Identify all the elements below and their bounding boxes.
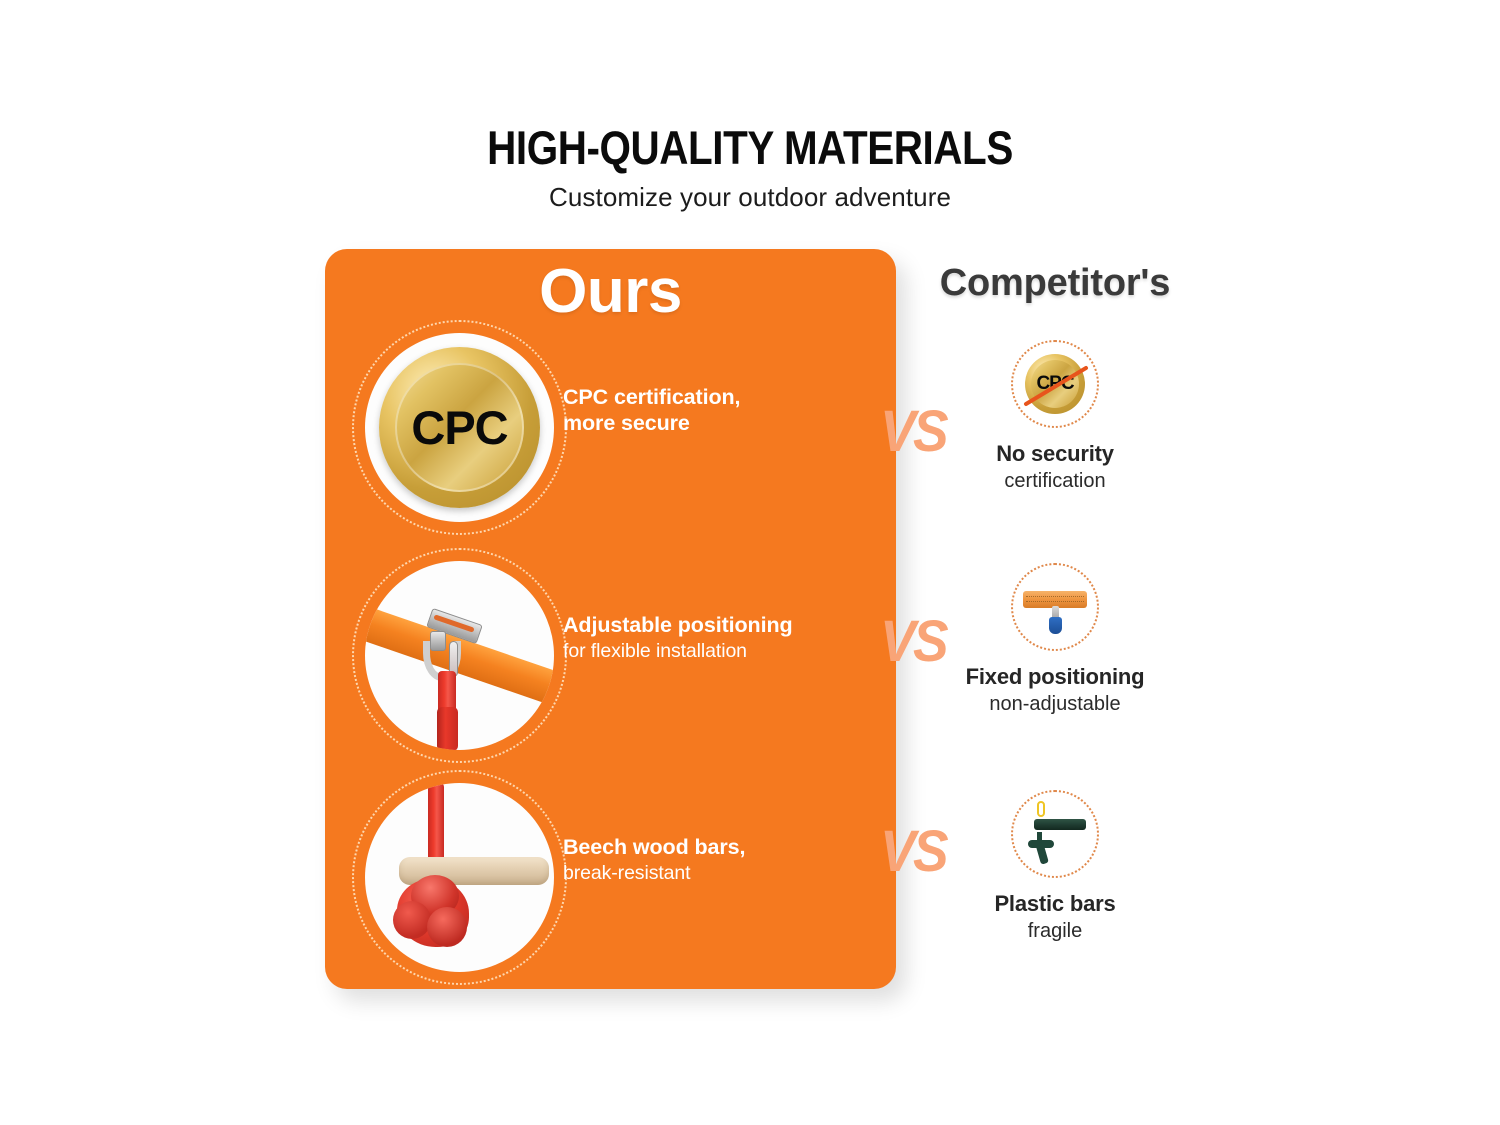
fixed-strap-hook-icon — [1011, 563, 1099, 651]
competitor-feature-line2: fragile — [930, 918, 1180, 945]
wood-bar-rope-icon — [352, 770, 567, 985]
competitor-feature-row: Plastic bars fragile — [930, 790, 1180, 945]
competitor-feature-line1: Fixed positioning — [930, 663, 1180, 691]
competitor-feature-line1: Plastic bars — [930, 890, 1180, 918]
cpc-medal-icon: CPC — [352, 320, 567, 535]
competitor-feature-row: CPC No security certification — [930, 340, 1180, 495]
cpc-medal-crossed-icon: CPC — [1011, 340, 1099, 428]
strap-stitch-line — [1026, 596, 1084, 597]
photo-circle — [365, 783, 554, 972]
medal-label: CPC — [411, 400, 507, 455]
ours-feature-text: CPC certification, more secure — [563, 384, 883, 436]
ours-feature-text: Adjustable positioning for flexible inst… — [563, 612, 883, 664]
rope-knot-detail — [393, 901, 431, 939]
ours-feature-line2: break-resistant — [563, 860, 883, 886]
ours-feature-line1: Beech wood bars, — [563, 834, 883, 860]
medal-face: CPC — [395, 363, 524, 492]
ours-feature-text: Beech wood bars, break-resistant — [563, 834, 883, 886]
page-title: HIGH-QUALITY MATERIALS — [105, 120, 1395, 175]
ours-feature-row: Adjustable positioning for flexible inst… — [325, 548, 896, 763]
competitor-feature-row: Fixed positioning non-adjustable — [930, 563, 1180, 718]
plastic-bar-graphic — [1034, 819, 1086, 830]
ours-feature-line2: for flexible installation — [563, 638, 883, 664]
competitor-column-heading: Competitor's — [905, 262, 1205, 305]
blue-carabiner-graphic — [1049, 617, 1062, 634]
competitor-feature-line2: non-adjustable — [930, 691, 1180, 718]
competitor-feature-line2: certification — [930, 468, 1180, 495]
strap-stitch-line — [1026, 601, 1084, 602]
ours-feature-line1: CPC certification, — [563, 384, 883, 410]
ours-feature-line2: more secure — [563, 410, 883, 436]
ours-column-heading: Ours — [325, 256, 896, 327]
yellow-carabiner-graphic — [1037, 801, 1045, 817]
page-subtitle: Customize your outdoor adventure — [0, 182, 1500, 213]
ours-feature-row: Beech wood bars, break-resistant — [325, 770, 896, 985]
plastic-bar-icon — [1011, 790, 1099, 878]
ours-feature-line1: Adjustable positioning — [563, 612, 883, 638]
infographic-root: HIGH-QUALITY MATERIALS Customize your ou… — [0, 0, 1500, 1125]
photo-circle — [365, 561, 554, 750]
rope-knot-detail — [427, 907, 467, 947]
ours-feature-row: CPC CPC certification, more secure — [325, 320, 896, 535]
strap-buckle-icon — [352, 548, 567, 763]
photo-circle: CPC — [365, 333, 554, 522]
rope-sleeve-graphic — [437, 707, 458, 750]
competitor-feature-line1: No security — [930, 440, 1180, 468]
